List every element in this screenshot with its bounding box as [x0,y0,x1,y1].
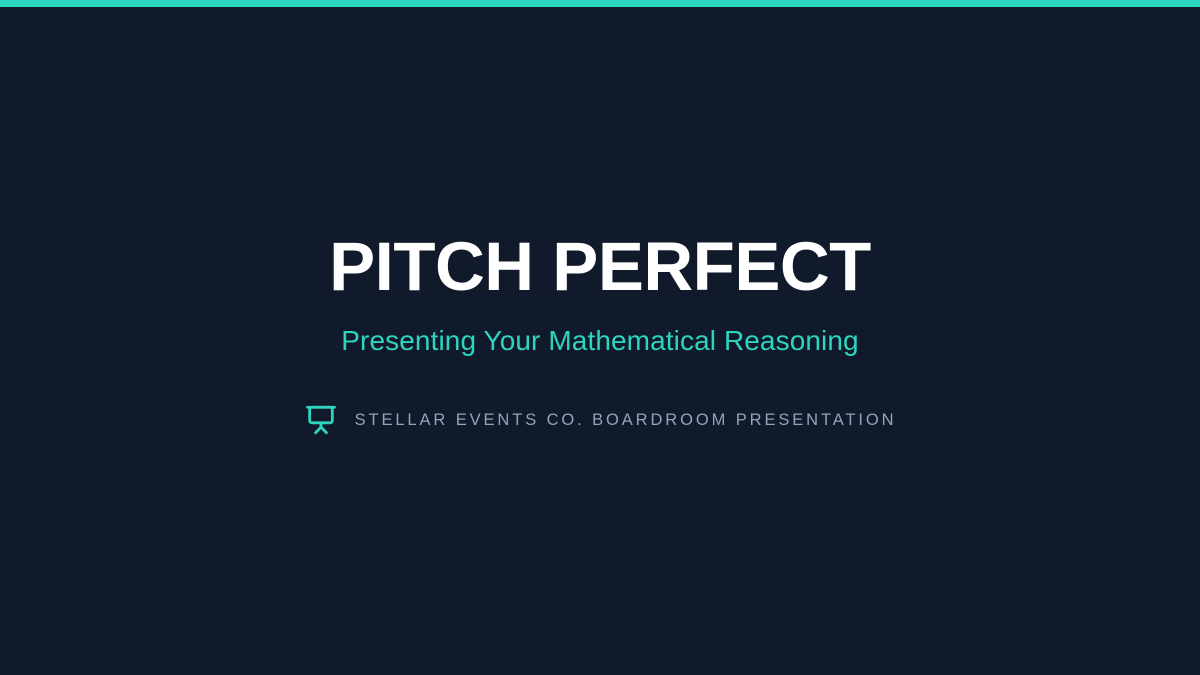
presentation-board-icon [304,403,338,437]
slide-subtitle: Presenting Your Mathematical Reasoning [341,327,858,355]
caption-label: STELLAR EVENTS CO. BOARDROOM PRESENTATIO… [355,412,897,429]
page-title: PITCH PERFECT [329,232,871,301]
slide-content: PITCH PERFECT Presenting Your Mathematic… [0,0,1200,675]
caption-row: STELLAR EVENTS CO. BOARDROOM PRESENTATIO… [304,403,897,437]
title-slide: PITCH PERFECT Presenting Your Mathematic… [0,0,1200,675]
